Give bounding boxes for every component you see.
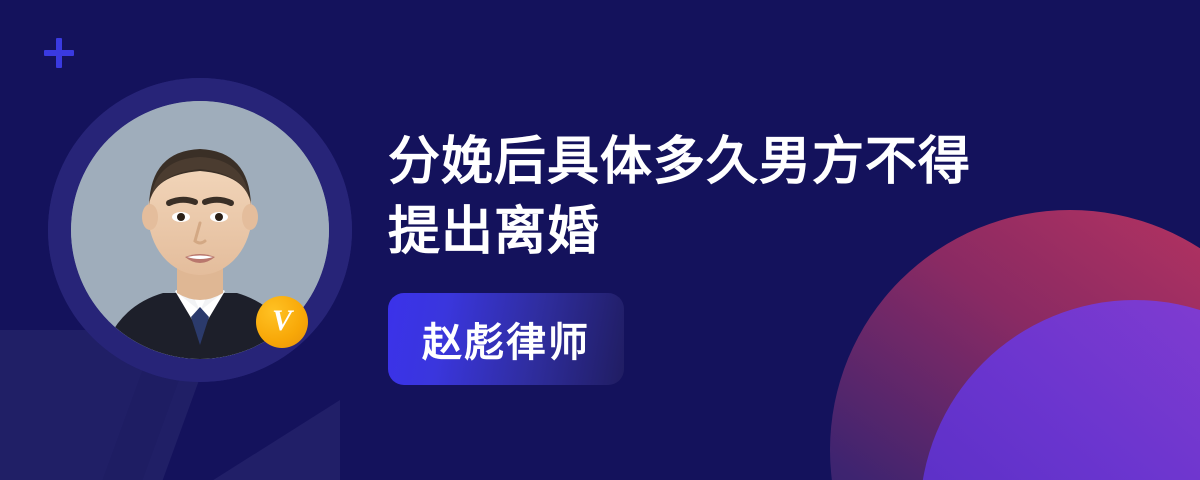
avatar: V: [48, 78, 352, 382]
verified-badge-icon: V: [256, 296, 308, 348]
plus-icon: [44, 38, 74, 68]
verified-badge-glyph: V: [272, 306, 292, 336]
content-block: 分娩后具体多久男方不得 提出离婚 赵彪律师: [388, 128, 1088, 385]
lawyer-name-button[interactable]: 赵彪律师: [388, 293, 624, 385]
lawyer-qa-banner: V 分娩后具体多久男方不得 提出离婚 赵彪律师: [0, 0, 1200, 480]
decor-wedge-middle: [150, 400, 340, 480]
page-title: 分娩后具体多久男方不得 提出离婚: [388, 128, 1088, 267]
